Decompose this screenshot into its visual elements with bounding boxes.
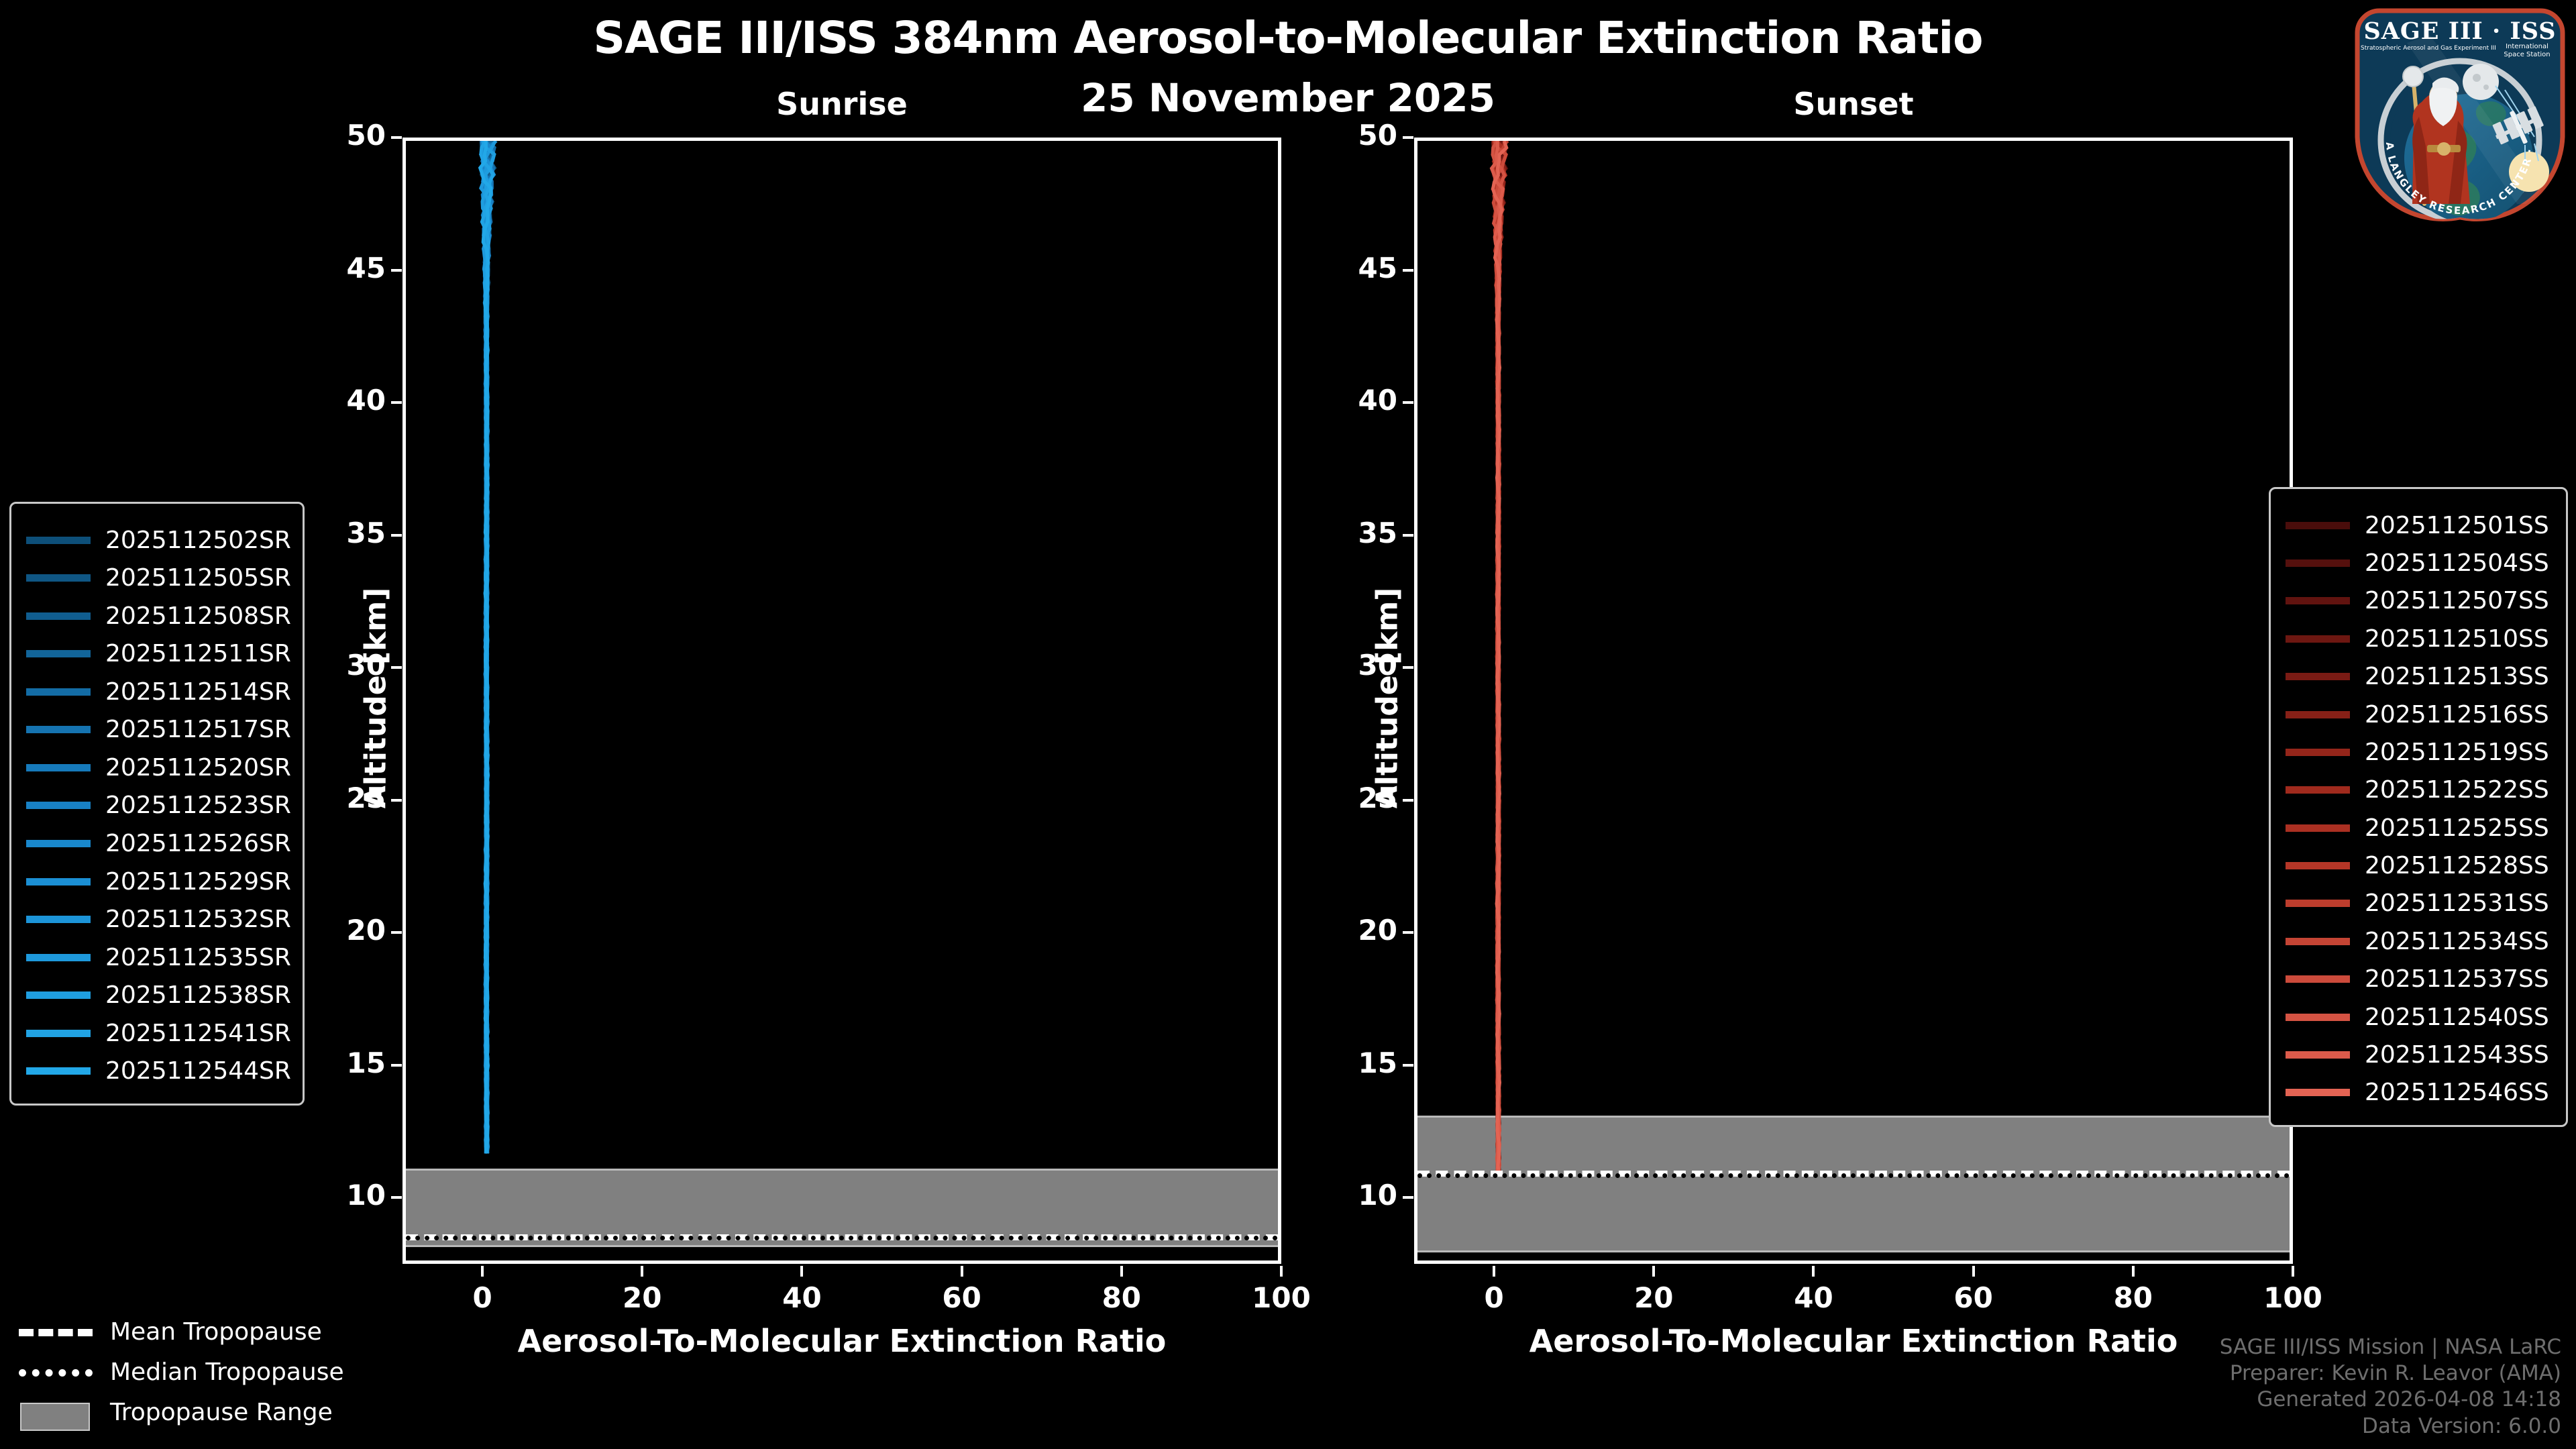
x-tick-mark-sunrise-0 bbox=[481, 1266, 484, 1277]
tropopause-legend-item-1: Median Tropopause bbox=[19, 1352, 344, 1392]
legend-item-2025112520SR[interactable]: 2025112520SR bbox=[26, 749, 291, 787]
y-tick-label-sunset-50: 50 bbox=[1327, 119, 1397, 152]
y-tick-label-sunset-25: 25 bbox=[1327, 782, 1397, 814]
legend-label-2025112541SR: 2025112541SR bbox=[105, 1020, 291, 1047]
y-axis-label-sunset: Altitude [km] bbox=[1371, 523, 1405, 872]
legend-tropopause: Mean TropopauseMedian TropopauseTropopau… bbox=[19, 1311, 344, 1432]
x-tick-label-sunrise-100: 100 bbox=[1228, 1281, 1335, 1314]
y-tick-label-sunset-40: 40 bbox=[1327, 384, 1397, 417]
x-tick-mark-sunset-80 bbox=[2132, 1266, 2135, 1277]
y-tick-mark-sunrise-45 bbox=[391, 269, 402, 272]
legend-swatch-2025112538SR bbox=[26, 991, 91, 999]
legend-label-2025112520SR: 2025112520SR bbox=[105, 754, 291, 782]
legend-swatch-2025112507SS bbox=[2286, 597, 2350, 604]
x-tick-mark-sunrise-60 bbox=[961, 1266, 963, 1277]
legend-swatch-2025112526SR bbox=[26, 840, 91, 847]
legend-label-2025112532SR: 2025112532SR bbox=[105, 906, 291, 933]
legend-item-2025112531SS[interactable]: 2025112531SS bbox=[2286, 885, 2549, 922]
legend-swatch-2025112501SS bbox=[2286, 522, 2350, 529]
y-tick-mark-sunset-30 bbox=[1403, 666, 1413, 669]
legend-label-2025112525SS: 2025112525SS bbox=[2365, 814, 2549, 842]
legend-swatch-2025112544SR bbox=[26, 1067, 91, 1075]
legend-item-2025112507SS[interactable]: 2025112507SS bbox=[2286, 582, 2549, 620]
patch-subtitle-left: Stratospheric Aerosol and Gas Experiment… bbox=[2361, 45, 2496, 52]
y-tick-label-sunrise-15: 15 bbox=[315, 1046, 386, 1079]
legend-label-2025112519SS: 2025112519SS bbox=[2365, 739, 2549, 766]
legend-item-2025112541SR[interactable]: 2025112541SR bbox=[26, 1014, 291, 1053]
legend-label-2025112538SR: 2025112538SR bbox=[105, 981, 291, 1009]
legend-label-2025112513SS: 2025112513SS bbox=[2365, 663, 2549, 690]
legend-swatch-2025112511SR bbox=[26, 650, 91, 657]
x-tick-label-sunset-0: 0 bbox=[1440, 1281, 1548, 1314]
x-axis-label-sunset: Aerosol-To-Molecular Extinction Ratio bbox=[1414, 1323, 2293, 1359]
legend-swatch-2025112525SS bbox=[2286, 824, 2350, 832]
credit-line-3: Data Version: 6.0.0 bbox=[2220, 1413, 2561, 1440]
legend-label-2025112517SR: 2025112517SR bbox=[105, 716, 291, 743]
legend-label-2025112544SR: 2025112544SR bbox=[105, 1057, 291, 1085]
y-tick-mark-sunrise-20 bbox=[391, 931, 402, 934]
legend-swatch-2025112543SS bbox=[2286, 1051, 2350, 1059]
legend-label-2025112543SS: 2025112543SS bbox=[2365, 1041, 2549, 1069]
legend-swatch-2025112541SR bbox=[26, 1030, 91, 1037]
y-tick-label-sunrise-35: 35 bbox=[315, 517, 386, 549]
legend-item-2025112508SR[interactable]: 2025112508SR bbox=[26, 597, 291, 635]
legend-item-2025112501SS[interactable]: 2025112501SS bbox=[2286, 506, 2549, 544]
legend-label-2025112534SS: 2025112534SS bbox=[2365, 928, 2549, 955]
legend-label-2025112508SR: 2025112508SR bbox=[105, 602, 291, 630]
legend-swatch-2025112519SS bbox=[2286, 749, 2350, 756]
legend-swatch-2025112504SS bbox=[2286, 559, 2350, 567]
legend-swatch-2025112529SR bbox=[26, 878, 91, 885]
legend-label-2025112501SS: 2025112501SS bbox=[2365, 512, 2549, 539]
y-tick-label-sunrise-20: 20 bbox=[315, 914, 386, 947]
legend-swatch-2025112534SS bbox=[2286, 938, 2350, 945]
legend-item-2025112513SS[interactable]: 2025112513SS bbox=[2286, 658, 2549, 696]
legend-swatch-2025112535SR bbox=[26, 954, 91, 961]
x-tick-mark-sunrise-20 bbox=[641, 1266, 643, 1277]
legend-swatch-2025112510SS bbox=[2286, 635, 2350, 643]
legend-swatch-2025112540SS bbox=[2286, 1014, 2350, 1021]
legend-swatch-2025112514SR bbox=[26, 688, 91, 696]
y-tick-mark-sunrise-30 bbox=[391, 666, 402, 669]
legend-label-2025112523SR: 2025112523SR bbox=[105, 792, 291, 819]
plot-area-sunset bbox=[1414, 138, 2293, 1264]
legend-item-2025112505SR[interactable]: 2025112505SR bbox=[26, 559, 291, 598]
tropopause-legend-key-fill bbox=[19, 1403, 93, 1421]
patch-subtitle-right-2: Space Station bbox=[2504, 51, 2550, 58]
x-tick-label-sunrise-80: 80 bbox=[1068, 1281, 1175, 1314]
legend-item-2025112510SS[interactable]: 2025112510SS bbox=[2286, 620, 2549, 657]
legend-label-2025112511SR: 2025112511SR bbox=[105, 640, 291, 667]
tropopause-legend-key-dotted bbox=[19, 1363, 93, 1381]
credit-line-2: Generated 2026-04-08 14:18 bbox=[2220, 1387, 2561, 1413]
y-tick-mark-sunrise-15 bbox=[391, 1064, 402, 1067]
panel-heading-sunrise: Sunrise bbox=[402, 86, 1281, 122]
profile-curves-sunset bbox=[1417, 141, 2290, 1258]
legend-item-2025112523SR[interactable]: 2025112523SR bbox=[26, 787, 291, 825]
legend-item-2025112525SS[interactable]: 2025112525SS bbox=[2286, 809, 2549, 847]
legend-item-2025112543SS[interactable]: 2025112543SS bbox=[2286, 1036, 2549, 1073]
legend-item-2025112517SR[interactable]: 2025112517SR bbox=[26, 711, 291, 749]
y-tick-label-sunset-45: 45 bbox=[1327, 252, 1397, 284]
y-tick-label-sunrise-30: 30 bbox=[315, 649, 386, 682]
page-title: SAGE III/ISS 384nm Aerosol-to-Molecular … bbox=[0, 12, 2576, 64]
credit-line-1: Preparer: Kevin R. Leavor (AMA) bbox=[2220, 1360, 2561, 1387]
legend-item-2025112529SR[interactable]: 2025112529SR bbox=[26, 863, 291, 901]
tropopause-legend-glyph-dashed bbox=[19, 1329, 93, 1336]
legend-label-2025112507SS: 2025112507SS bbox=[2365, 587, 2549, 614]
y-tick-mark-sunrise-35 bbox=[391, 534, 402, 537]
y-tick-label-sunrise-50: 50 bbox=[315, 119, 386, 152]
legend-label-2025112514SR: 2025112514SR bbox=[105, 678, 291, 706]
x-tick-mark-sunset-20 bbox=[1652, 1266, 1655, 1277]
sage-iii-iss-mission-patch-logo: SAGE III · ISS Stratospheric Aerosol and… bbox=[2349, 3, 2571, 224]
legend-item-2025112534SS[interactable]: 2025112534SS bbox=[2286, 922, 2549, 960]
x-tick-label-sunset-60: 60 bbox=[1920, 1281, 2027, 1314]
legend-label-2025112537SS: 2025112537SS bbox=[2365, 965, 2549, 993]
legend-item-2025112538SR[interactable]: 2025112538SR bbox=[26, 976, 291, 1014]
x-axis-label-sunrise: Aerosol-To-Molecular Extinction Ratio bbox=[402, 1323, 1281, 1359]
x-tick-label-sunrise-20: 20 bbox=[588, 1281, 696, 1314]
profile-line-2025112543SS bbox=[1491, 141, 1503, 1172]
profile-curves-sunrise bbox=[406, 141, 1278, 1258]
y-tick-label-sunset-10: 10 bbox=[1327, 1179, 1397, 1212]
x-tick-label-sunrise-0: 0 bbox=[429, 1281, 536, 1314]
legend-item-2025112516SS[interactable]: 2025112516SS bbox=[2286, 696, 2549, 733]
y-tick-mark-sunset-50 bbox=[1403, 136, 1413, 139]
plot-area-sunrise bbox=[402, 138, 1281, 1264]
legend-swatch-2025112505SR bbox=[26, 574, 91, 582]
y-tick-mark-sunrise-40 bbox=[391, 401, 402, 404]
y-tick-mark-sunset-35 bbox=[1403, 534, 1413, 537]
y-tick-label-sunset-30: 30 bbox=[1327, 649, 1397, 682]
tropopause-legend-glyph-dotted bbox=[19, 1369, 93, 1377]
legend-item-2025112514SR[interactable]: 2025112514SR bbox=[26, 673, 291, 711]
y-tick-mark-sunset-40 bbox=[1403, 401, 1413, 404]
legend-swatch-2025112513SS bbox=[2286, 673, 2350, 680]
legend-swatch-2025112532SR bbox=[26, 916, 91, 923]
tropopause-legend-label-1: Median Tropopause bbox=[110, 1358, 344, 1386]
legend-label-2025112526SR: 2025112526SR bbox=[105, 830, 291, 857]
legend-swatch-2025112528SS bbox=[2286, 862, 2350, 869]
legend-label-2025112522SS: 2025112522SS bbox=[2365, 776, 2549, 804]
x-tick-mark-sunrise-100 bbox=[1280, 1266, 1283, 1277]
patch-subtitle-right-1: International bbox=[2506, 43, 2548, 50]
legend-item-2025112511SR[interactable]: 2025112511SR bbox=[26, 635, 291, 674]
legend-sunset[interactable]: 2025112501SS2025112504SS2025112507SS2025… bbox=[2269, 487, 2568, 1127]
legend-swatch-2025112520SR bbox=[26, 764, 91, 771]
legend-label-2025112529SR: 2025112529SR bbox=[105, 868, 291, 896]
x-tick-label-sunrise-40: 40 bbox=[748, 1281, 855, 1314]
y-tick-label-sunset-35: 35 bbox=[1327, 517, 1397, 549]
legend-item-2025112532SR[interactable]: 2025112532SR bbox=[26, 900, 291, 938]
x-tick-mark-sunset-100 bbox=[2292, 1266, 2294, 1277]
x-tick-label-sunset-20: 20 bbox=[1600, 1281, 1707, 1314]
legend-swatch-2025112516SS bbox=[2286, 711, 2350, 718]
legend-item-2025112528SS[interactable]: 2025112528SS bbox=[2286, 847, 2549, 884]
legend-item-2025112535SR[interactable]: 2025112535SR bbox=[26, 938, 291, 977]
legend-swatch-2025112522SS bbox=[2286, 786, 2350, 794]
legend-label-2025112531SS: 2025112531SS bbox=[2365, 890, 2549, 917]
x-tick-label-sunrise-60: 60 bbox=[908, 1281, 1016, 1314]
legend-swatch-2025112531SS bbox=[2286, 900, 2350, 907]
x-tick-mark-sunset-0 bbox=[1493, 1266, 1495, 1277]
legend-label-2025112528SS: 2025112528SS bbox=[2365, 852, 2549, 879]
tropopause-legend-label-2: Tropopause Range bbox=[110, 1399, 333, 1426]
legend-label-2025112540SS: 2025112540SS bbox=[2365, 1004, 2549, 1031]
x-tick-mark-sunrise-80 bbox=[1120, 1266, 1123, 1277]
y-tick-mark-sunset-20 bbox=[1403, 931, 1413, 934]
legend-item-2025112546SS[interactable]: 2025112546SS bbox=[2286, 1074, 2549, 1112]
y-tick-label-sunset-15: 15 bbox=[1327, 1046, 1397, 1079]
legend-swatch-2025112502SR bbox=[26, 537, 91, 544]
patch-title: SAGE III · ISS bbox=[2363, 17, 2556, 45]
legend-label-2025112510SS: 2025112510SS bbox=[2365, 625, 2549, 653]
credit-line-0: SAGE III/ISS Mission | NASA LaRC bbox=[2220, 1334, 2561, 1360]
x-tick-mark-sunset-60 bbox=[1972, 1266, 1975, 1277]
x-tick-label-sunset-100: 100 bbox=[2239, 1281, 2347, 1314]
legend-swatch-2025112508SR bbox=[26, 612, 91, 620]
legend-swatch-2025112517SR bbox=[26, 726, 91, 733]
legend-swatch-2025112537SS bbox=[2286, 975, 2350, 983]
median-tropopause-line-sunrise bbox=[406, 1236, 1278, 1240]
legend-label-2025112504SS: 2025112504SS bbox=[2365, 549, 2549, 577]
tropopause-legend-label-0: Mean Tropopause bbox=[110, 1318, 322, 1346]
y-tick-label-sunrise-10: 10 bbox=[315, 1179, 386, 1212]
legend-item-2025112537SS[interactable]: 2025112537SS bbox=[2286, 961, 2549, 998]
legend-sunrise[interactable]: 2025112502SR2025112505SR2025112508SR2025… bbox=[9, 502, 305, 1106]
y-tick-mark-sunset-10 bbox=[1403, 1196, 1413, 1199]
tropopause-legend-item-2: Tropopause Range bbox=[19, 1392, 344, 1432]
credits-block: SAGE III/ISS Mission | NASA LaRCPreparer… bbox=[2220, 1334, 2561, 1440]
x-tick-label-sunset-40: 40 bbox=[1760, 1281, 1867, 1314]
x-tick-label-sunset-80: 80 bbox=[2080, 1281, 2187, 1314]
median-tropopause-line-sunset bbox=[1417, 1173, 2290, 1178]
y-tick-mark-sunrise-25 bbox=[391, 799, 402, 802]
y-tick-mark-sunset-15 bbox=[1403, 1064, 1413, 1067]
y-tick-mark-sunrise-50 bbox=[391, 136, 402, 139]
y-tick-mark-sunset-45 bbox=[1403, 269, 1413, 272]
legend-label-2025112505SR: 2025112505SR bbox=[105, 564, 291, 592]
y-tick-mark-sunset-25 bbox=[1403, 799, 1413, 802]
y-axis-label-sunrise: Altitude [km] bbox=[359, 523, 393, 872]
tropopause-legend-item-0: Mean Tropopause bbox=[19, 1311, 344, 1352]
legend-label-2025112502SR: 2025112502SR bbox=[105, 527, 291, 554]
y-tick-label-sunrise-40: 40 bbox=[315, 384, 386, 417]
legend-item-2025112540SS[interactable]: 2025112540SS bbox=[2286, 998, 2549, 1036]
tropopause-legend-glyph-fill bbox=[20, 1403, 90, 1431]
y-tick-label-sunrise-25: 25 bbox=[315, 782, 386, 814]
legend-item-2025112544SR[interactable]: 2025112544SR bbox=[26, 1052, 291, 1090]
legend-item-2025112504SS[interactable]: 2025112504SS bbox=[2286, 544, 2549, 582]
legend-item-2025112502SR[interactable]: 2025112502SR bbox=[26, 521, 291, 559]
legend-label-2025112546SS: 2025112546SS bbox=[2365, 1079, 2549, 1106]
legend-swatch-2025112546SS bbox=[2286, 1089, 2350, 1096]
legend-swatch-2025112523SR bbox=[26, 802, 91, 809]
tropopause-legend-key-dashed bbox=[19, 1323, 93, 1340]
legend-item-2025112522SS[interactable]: 2025112522SS bbox=[2286, 771, 2549, 809]
x-tick-mark-sunset-40 bbox=[1812, 1266, 1815, 1277]
legend-label-2025112516SS: 2025112516SS bbox=[2365, 701, 2549, 729]
legend-item-2025112519SS[interactable]: 2025112519SS bbox=[2286, 733, 2549, 771]
legend-item-2025112526SR[interactable]: 2025112526SR bbox=[26, 824, 291, 863]
y-tick-label-sunset-20: 20 bbox=[1327, 914, 1397, 947]
legend-label-2025112535SR: 2025112535SR bbox=[105, 944, 291, 971]
y-tick-label-sunrise-45: 45 bbox=[315, 252, 386, 284]
panel-heading-sunset: Sunset bbox=[1414, 86, 2293, 122]
x-tick-mark-sunrise-40 bbox=[800, 1266, 803, 1277]
y-tick-mark-sunrise-10 bbox=[391, 1196, 402, 1199]
